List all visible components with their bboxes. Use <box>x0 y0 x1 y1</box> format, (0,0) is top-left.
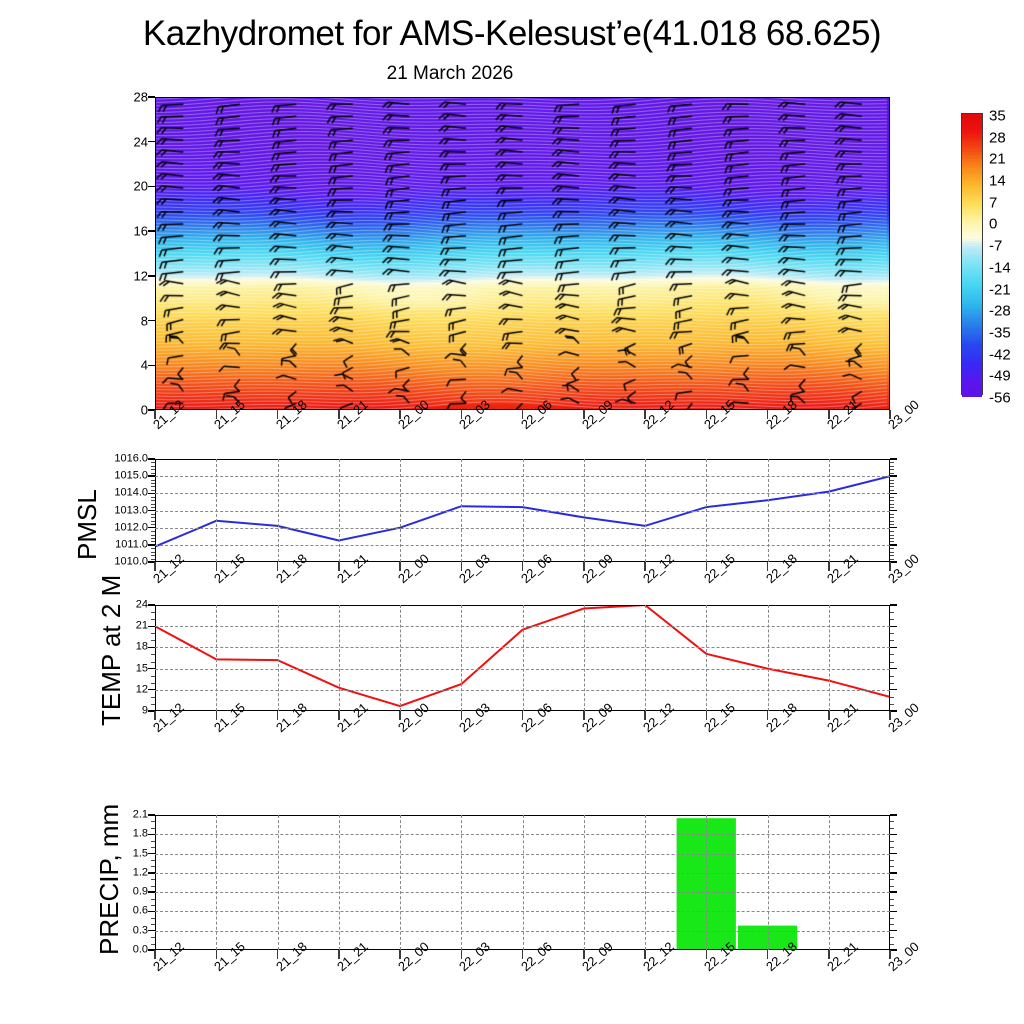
colorbar-tick-label: -56 <box>989 390 1011 407</box>
temp-y-minor-tick <box>151 633 155 634</box>
pmsl-gridline-v <box>584 459 585 562</box>
precip-y-minor-tick <box>151 860 155 861</box>
cross-section-frame <box>155 97 890 410</box>
precip-y-tick <box>890 891 897 892</box>
pmsl-y-tick <box>148 544 155 545</box>
precip-y-tick <box>148 891 155 892</box>
pmsl-y-minor-tick <box>151 497 155 498</box>
pmsl-y-minor-tick <box>151 507 155 508</box>
pmsl-y-minor-tick <box>151 541 155 542</box>
temp-y-minor-tick <box>151 640 155 641</box>
pmsl-y-tick <box>890 561 897 562</box>
pmsl-y-minor-tick <box>890 541 894 542</box>
pmsl-y-minor-tick <box>151 486 155 487</box>
pmsl-y-minor-tick <box>890 514 894 515</box>
precip-axis-label: PRECIP, mm <box>94 804 125 955</box>
temp-y-tick <box>148 689 155 690</box>
pmsl-y-minor-tick <box>151 517 155 518</box>
pmsl-y-minor-tick <box>890 500 894 501</box>
pmsl-y-minor-tick <box>151 514 155 515</box>
pmsl-gridline-v <box>461 459 462 562</box>
temp-y-minor-tick <box>151 676 155 677</box>
temp-y-minor-tick <box>151 662 155 663</box>
colorbar-tick-label: -49 <box>989 368 1011 385</box>
pmsl-y-minor-tick <box>890 483 894 484</box>
precip-y-minor-tick <box>151 879 155 880</box>
pmsl-y-minor-tick <box>890 466 894 467</box>
pmsl-y-minor-tick <box>151 466 155 467</box>
pmsl-gridline-v <box>645 459 646 562</box>
pmsl-y-tick <box>890 544 897 545</box>
temp-y-minor-tick <box>890 633 894 634</box>
temp-gridline-v <box>645 605 646 711</box>
temp-gridline-v <box>523 605 524 711</box>
pmsl-gridline-v <box>706 459 707 562</box>
precip-y-tick <box>148 930 155 931</box>
precip-y-minor-tick <box>890 937 894 938</box>
temp-y-tick <box>890 647 897 648</box>
precip-y-minor-tick <box>151 886 155 887</box>
pmsl-y-minor-tick <box>890 473 894 474</box>
colorbar-tick-label: 14 <box>989 173 1006 190</box>
precip-y-minor-tick <box>890 841 894 842</box>
temp-y-minor-tick <box>151 697 155 698</box>
pmsl-y-minor-tick <box>151 559 155 560</box>
temp-y-minor-tick <box>151 704 155 705</box>
precip-y-minor-tick <box>890 924 894 925</box>
pmsl-y-minor-tick <box>151 535 155 536</box>
precip-gridline-v <box>400 815 401 950</box>
pmsl-gridline-v <box>278 459 279 562</box>
cross-section-y-tick <box>148 365 155 366</box>
cross-section-x-tick-label: 23_00 <box>885 397 922 432</box>
temp-x-tick-label: 23_00 <box>885 700 922 735</box>
vertical-cross-section-panel: 0481216202428 21_1221_1521_1821_2122_002… <box>155 97 890 410</box>
colorbar-tick-label: 21 <box>989 151 1006 168</box>
colorbar-tick-label: -28 <box>989 303 1011 320</box>
pmsl-y-tick <box>890 475 897 476</box>
temp-y-minor-tick <box>890 704 894 705</box>
colorbar-tick-label: -21 <box>989 281 1011 298</box>
temp-gridline-v <box>706 605 707 711</box>
pmsl-y-minor-tick <box>890 531 894 532</box>
pmsl-gridline-v <box>400 459 401 562</box>
precip-y-minor-tick <box>151 937 155 938</box>
pmsl-y-tick <box>148 493 155 494</box>
colorbar-stripe <box>962 394 982 397</box>
pmsl-panel: 1010.01011.01012.01013.01014.01015.01016… <box>155 459 890 562</box>
precip-y-tick <box>890 834 897 835</box>
temp-y-tick <box>148 604 155 605</box>
precip-y-minor-tick <box>890 828 894 829</box>
page-subtitle: 21 March 2026 <box>0 63 900 85</box>
pmsl-y-tick <box>890 493 897 494</box>
pmsl-y-minor-tick <box>890 497 894 498</box>
precip-y-tick <box>890 911 897 912</box>
precip-y-tick <box>148 872 155 873</box>
precip-y-tick <box>148 834 155 835</box>
colorbar-gradient <box>961 113 983 395</box>
pmsl-y-tick <box>890 458 897 459</box>
cross-section-y-tick <box>148 230 155 231</box>
temp-gridline-v <box>461 605 462 711</box>
pmsl-y-minor-tick <box>151 555 155 556</box>
pmsl-y-minor-tick <box>890 486 894 487</box>
pmsl-y-minor-tick <box>890 504 894 505</box>
temp-y-minor-tick <box>890 676 894 677</box>
precip-y-tick <box>890 814 897 815</box>
pmsl-y-minor-tick <box>151 469 155 470</box>
precip-gridline-v <box>278 815 279 950</box>
temp-y-minor-tick <box>890 662 894 663</box>
colorbar-tick-label: -35 <box>989 324 1011 341</box>
pmsl-y-tick <box>890 527 897 528</box>
temp-gridline-v <box>339 605 340 711</box>
pmsl-y-minor-tick <box>890 480 894 481</box>
colorbar: 3528211470-7-14-21-28-35-42-49-56 <box>961 113 983 395</box>
temp-y-tick <box>890 689 897 690</box>
precip-gridline-v <box>339 815 340 950</box>
precip-y-tick <box>148 853 155 854</box>
precip-y-minor-tick <box>890 866 894 867</box>
pmsl-y-minor-tick <box>890 559 894 560</box>
weather-forecast-chart: Kazhydromet for AMS-Kelesust’e(41.018 68… <box>0 0 1024 1024</box>
temp-y-minor-tick <box>890 683 894 684</box>
pmsl-y-minor-tick <box>151 521 155 522</box>
precip-gridline-v <box>829 815 830 950</box>
temp-panel: 91215182124 21_1221_1521_1821_2122_0022_… <box>155 605 890 711</box>
pmsl-y-minor-tick <box>151 504 155 505</box>
precip-y-minor-tick <box>890 860 894 861</box>
temp-gridline-v <box>829 605 830 711</box>
pmsl-y-minor-tick <box>890 507 894 508</box>
pmsl-y-minor-tick <box>890 521 894 522</box>
precip-y-minor-tick <box>151 899 155 900</box>
precip-y-minor-tick <box>151 905 155 906</box>
precip-y-minor-tick <box>890 918 894 919</box>
precip-gridline-v <box>523 815 524 950</box>
pmsl-y-minor-tick <box>151 500 155 501</box>
temp-y-minor-tick <box>151 619 155 620</box>
pmsl-y-minor-tick <box>151 552 155 553</box>
precip-y-tick <box>148 814 155 815</box>
colorbar-tick-label: -7 <box>989 238 1002 255</box>
colorbar-tick-label: 35 <box>989 108 1006 125</box>
colorbar-tick-label: -42 <box>989 346 1011 363</box>
temp-y-minor-tick <box>151 683 155 684</box>
temp-axis-label: TEMP at 2 M <box>96 575 127 726</box>
pmsl-y-minor-tick <box>890 555 894 556</box>
precip-panel: 0.00.30.60.91.21.51.82.1 21_1221_1521_18… <box>155 815 890 950</box>
temp-gridline-v <box>278 605 279 711</box>
pmsl-y-minor-tick <box>890 490 894 491</box>
temp-y-minor-tick <box>890 619 894 620</box>
temp-gridline-v <box>216 605 217 711</box>
pmsl-y-minor-tick <box>151 490 155 491</box>
precip-y-minor-tick <box>151 847 155 848</box>
pmsl-y-minor-tick <box>890 535 894 536</box>
pmsl-gridline-v <box>339 459 340 562</box>
precip-y-minor-tick <box>890 899 894 900</box>
pmsl-y-minor-tick <box>890 548 894 549</box>
precip-gridline-v <box>461 815 462 950</box>
temp-y-minor-tick <box>890 612 894 613</box>
colorbar-tick-label: 0 <box>989 216 997 233</box>
precip-y-minor-tick <box>151 841 155 842</box>
precip-y-minor-tick <box>151 866 155 867</box>
pmsl-y-minor-tick <box>890 524 894 525</box>
colorbar-tick-label: 28 <box>989 129 1006 146</box>
temp-y-minor-tick <box>151 612 155 613</box>
pmsl-y-tick <box>148 458 155 459</box>
pmsl-y-minor-tick <box>151 531 155 532</box>
cross-section-y-tick <box>148 141 155 142</box>
precip-y-tick <box>890 872 897 873</box>
precip-y-minor-tick <box>890 821 894 822</box>
pmsl-gridline-v <box>829 459 830 562</box>
cross-section-y-tick <box>148 186 155 187</box>
precip-y-minor-tick <box>890 847 894 848</box>
pmsl-y-minor-tick <box>890 517 894 518</box>
pmsl-y-minor-tick <box>890 552 894 553</box>
precip-gridline-v <box>706 815 707 950</box>
cross-section-y-tick <box>148 96 155 97</box>
precip-y-minor-tick <box>890 879 894 880</box>
pmsl-y-minor-tick <box>151 473 155 474</box>
precip-gridline-v <box>768 815 769 950</box>
precip-y-minor-tick <box>151 924 155 925</box>
precip-gridline-v <box>216 815 217 950</box>
precip-y-minor-tick <box>151 821 155 822</box>
precip-y-minor-tick <box>890 886 894 887</box>
pmsl-y-minor-tick <box>151 548 155 549</box>
page-title: Kazhydromet for AMS-Kelesust’e(41.018 68… <box>0 14 1024 54</box>
temp-y-minor-tick <box>151 654 155 655</box>
precip-gridline-v <box>645 815 646 950</box>
precip-y-minor-tick <box>890 944 894 945</box>
precip-y-minor-tick <box>151 944 155 945</box>
temp-gridline-v <box>768 605 769 711</box>
pmsl-y-minor-tick <box>890 538 894 539</box>
pmsl-y-tick <box>890 510 897 511</box>
precip-y-tick <box>890 853 897 854</box>
temp-y-tick <box>890 626 897 627</box>
temp-y-tick <box>148 668 155 669</box>
temp-gridline-v <box>584 605 585 711</box>
pmsl-y-minor-tick <box>890 462 894 463</box>
temp-gridline-v <box>400 605 401 711</box>
pmsl-gridline-v <box>216 459 217 562</box>
temp-y-tick <box>890 604 897 605</box>
precip-gridline-v <box>584 815 585 950</box>
precip-y-minor-tick <box>151 918 155 919</box>
cross-section-y-tick <box>148 320 155 321</box>
temp-y-tick <box>148 647 155 648</box>
pmsl-y-tick <box>148 510 155 511</box>
colorbar-tick-label: -14 <box>989 259 1011 276</box>
temp-y-tick <box>148 626 155 627</box>
precip-y-minor-tick <box>890 905 894 906</box>
cross-section-y-tick <box>148 275 155 276</box>
precip-y-tick <box>890 949 897 950</box>
pmsl-gridline-v <box>523 459 524 562</box>
colorbar-tick-label: 7 <box>989 194 997 211</box>
temp-y-minor-tick <box>890 697 894 698</box>
pmsl-gridline-v <box>768 459 769 562</box>
temp-y-minor-tick <box>890 640 894 641</box>
pmsl-y-minor-tick <box>151 462 155 463</box>
pmsl-axis-label: PMSL <box>72 489 103 560</box>
temp-y-tick <box>890 668 897 669</box>
precip-y-tick <box>148 911 155 912</box>
precip-y-minor-tick <box>151 828 155 829</box>
pmsl-y-minor-tick <box>151 480 155 481</box>
pmsl-y-minor-tick <box>151 483 155 484</box>
pmsl-y-tick <box>148 527 155 528</box>
pmsl-y-minor-tick <box>151 524 155 525</box>
temp-y-minor-tick <box>890 654 894 655</box>
precip-y-tick <box>890 930 897 931</box>
pmsl-y-minor-tick <box>890 469 894 470</box>
pmsl-y-minor-tick <box>151 538 155 539</box>
pmsl-y-tick <box>148 475 155 476</box>
temp-y-tick <box>890 710 897 711</box>
